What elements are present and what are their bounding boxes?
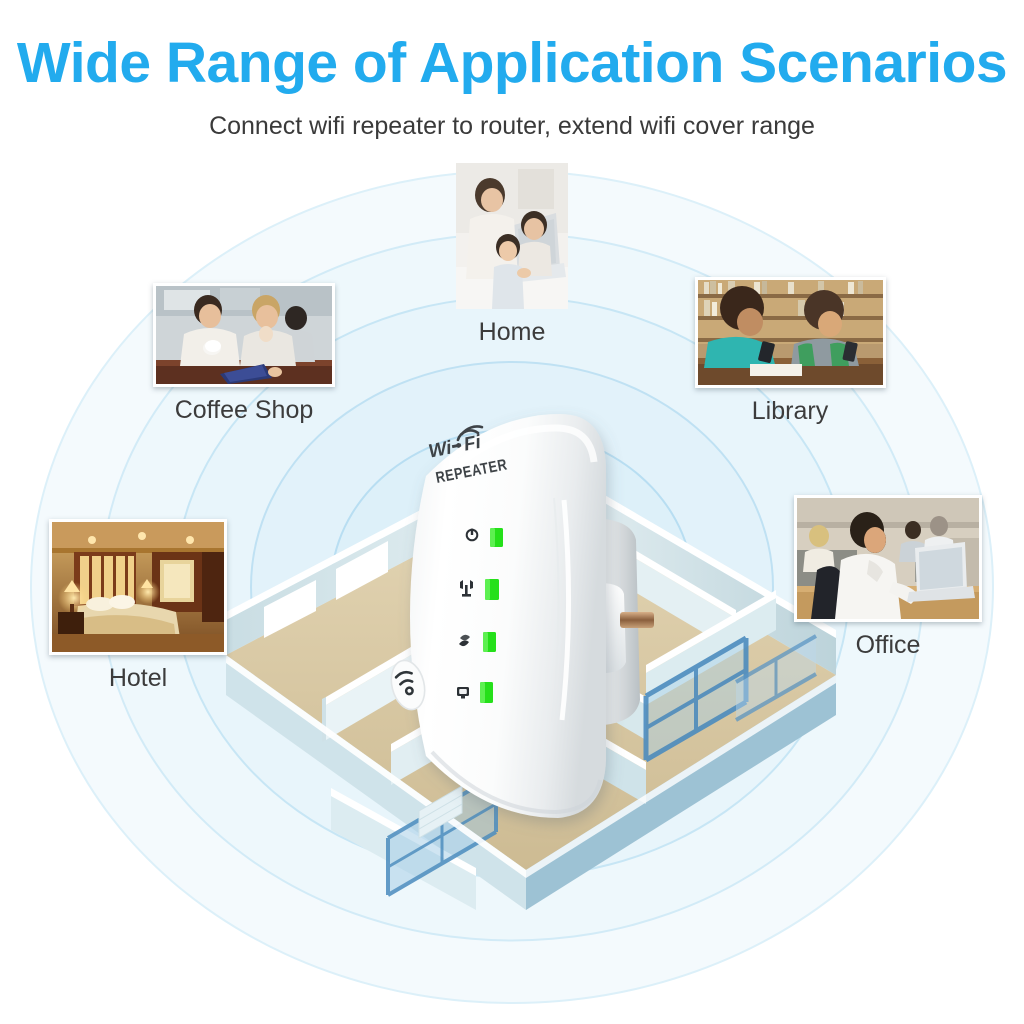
office-photo bbox=[794, 495, 982, 622]
library-photo bbox=[695, 277, 886, 388]
application-scenarios-banner: Wi Fi REPEATER bbox=[0, 0, 1024, 1024]
scenario-label-home: Home bbox=[428, 318, 596, 347]
svg-text:Wi: Wi bbox=[427, 437, 454, 462]
scenario-label-office: Office bbox=[788, 631, 988, 660]
hotel-photo bbox=[49, 519, 227, 655]
scenario-label-coffee-shop: Coffee Shop bbox=[140, 396, 348, 425]
page-title: Wide Range of Application Scenarios bbox=[0, 30, 1024, 96]
coffee-shop-photo bbox=[153, 283, 335, 387]
home-photo bbox=[456, 163, 568, 309]
scenario-card-library[interactable]: Library bbox=[686, 277, 894, 426]
scenario-card-office[interactable]: Office bbox=[788, 495, 988, 660]
scenario-label-library: Library bbox=[686, 397, 894, 426]
scenario-card-coffee-shop[interactable]: Coffee Shop bbox=[140, 283, 348, 425]
scenario-label-hotel: Hotel bbox=[42, 664, 234, 693]
scenario-card-home[interactable]: Home bbox=[428, 163, 596, 347]
scenario-card-hotel[interactable]: Hotel bbox=[42, 519, 234, 693]
page-subtitle: Connect wifi repeater to router, extend … bbox=[0, 112, 1024, 141]
wifi-repeater-device: Wi Fi REPEATER bbox=[368, 380, 698, 850]
